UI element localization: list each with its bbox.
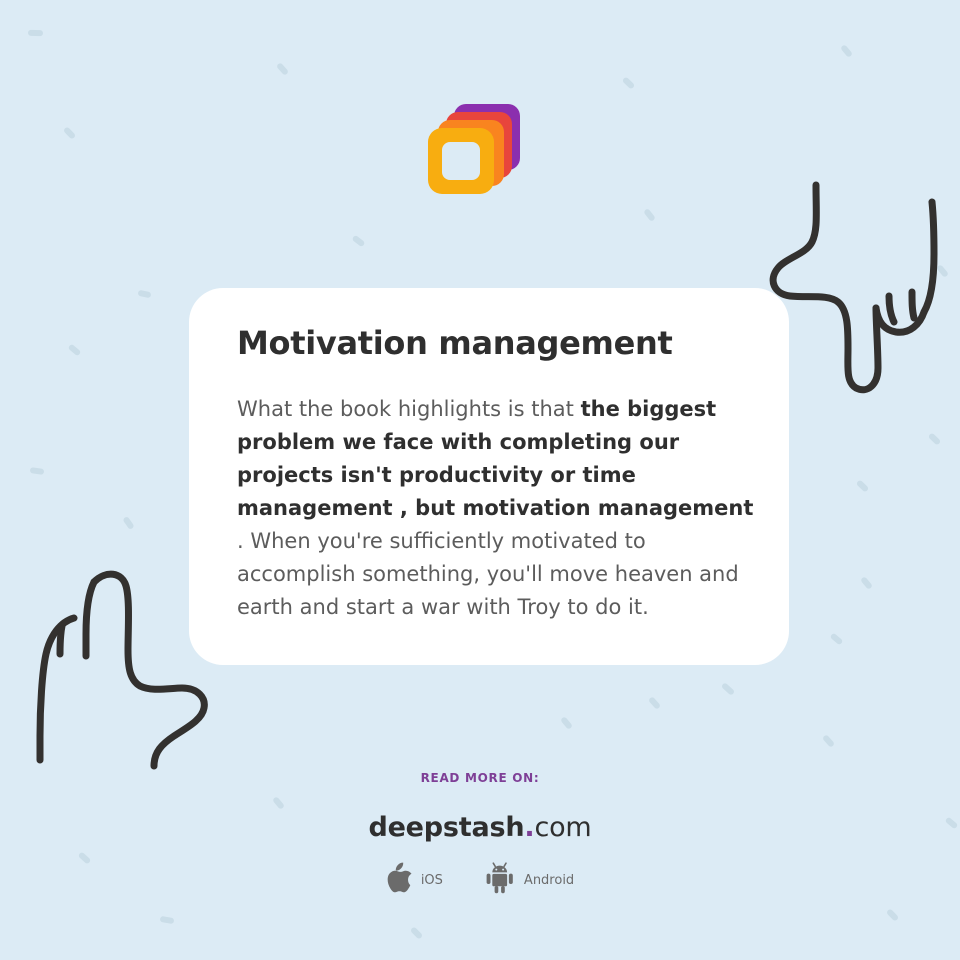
body-tail-text: . When you're sufficiently motivated to … bbox=[237, 529, 739, 619]
confetti-speck bbox=[643, 208, 656, 222]
confetti-speck bbox=[928, 432, 942, 445]
deepstash-logo bbox=[428, 104, 520, 196]
page-title: Motivation management bbox=[237, 324, 672, 362]
android-badge[interactable]: Android bbox=[485, 862, 574, 898]
confetti-speck bbox=[822, 734, 835, 748]
confetti-speck bbox=[648, 696, 661, 710]
confetti-speck bbox=[721, 682, 735, 696]
body-lead-text: What the book highlights is that bbox=[237, 397, 581, 421]
pointing-hand-bottom-left-icon bbox=[22, 558, 212, 782]
read-more-label: READ MORE ON: bbox=[0, 771, 960, 785]
logo-inner-cutout bbox=[442, 142, 480, 180]
brand-wordmark[interactable]: deepstash.com bbox=[0, 812, 960, 843]
android-label: Android bbox=[524, 873, 574, 888]
apple-icon bbox=[386, 862, 412, 898]
card-body-text: What the book highlights is that the big… bbox=[237, 393, 755, 624]
confetti-speck bbox=[410, 926, 423, 939]
android-icon bbox=[485, 862, 515, 898]
confetti-speck bbox=[936, 264, 949, 278]
confetti-speck bbox=[860, 576, 873, 590]
brand-dot: . bbox=[524, 812, 534, 843]
brand-tld: com bbox=[534, 812, 591, 843]
confetti-speck bbox=[352, 235, 366, 248]
confetti-speck bbox=[830, 633, 844, 646]
ios-badge[interactable]: iOS bbox=[386, 862, 443, 898]
confetti-speck bbox=[68, 344, 82, 357]
confetti-speck bbox=[560, 716, 573, 730]
confetti-speck bbox=[272, 796, 285, 810]
confetti-speck bbox=[276, 62, 289, 76]
confetti-speck bbox=[160, 916, 175, 924]
confetti-speck bbox=[886, 908, 899, 922]
poster-canvas: Motivation management What the book high… bbox=[0, 0, 960, 960]
confetti-speck bbox=[30, 467, 45, 475]
confetti-speck bbox=[122, 516, 134, 530]
brand-name: deepstash bbox=[368, 812, 524, 843]
confetti-speck bbox=[63, 126, 76, 140]
ios-label: iOS bbox=[421, 873, 443, 888]
content-card: Motivation management What the book high… bbox=[189, 288, 789, 665]
app-store-badges: iOS bbox=[0, 862, 960, 898]
confetti-speck bbox=[28, 30, 43, 37]
confetti-speck bbox=[622, 76, 636, 89]
confetti-speck bbox=[840, 44, 853, 58]
confetti-speck bbox=[856, 479, 870, 492]
confetti-speck bbox=[138, 290, 152, 299]
